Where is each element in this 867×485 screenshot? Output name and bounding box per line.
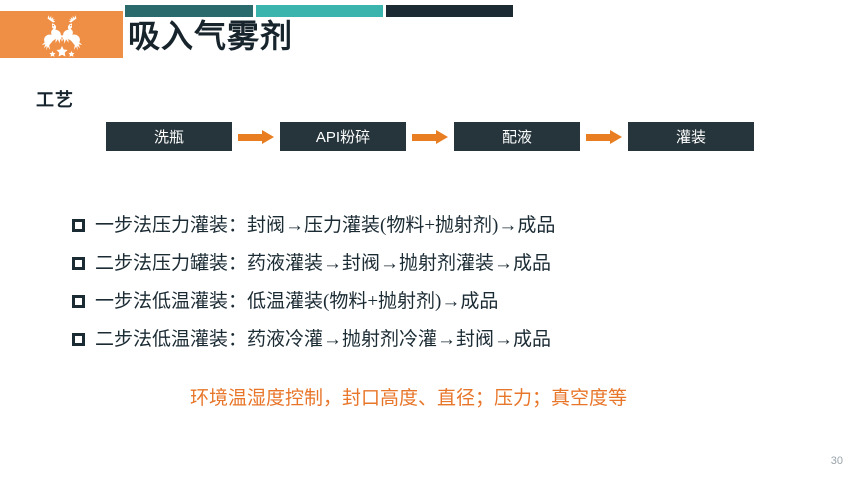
list-item-label: 二步法低温灌装：药液冷灌→抛射剂冷灌→封阀→成品: [95, 326, 551, 354]
flow-step-1: 洗瓶: [106, 122, 232, 151]
page-title: 吸入气雾剂: [128, 16, 293, 56]
list-item-label: 一步法低温灌装：低温灌装(物料+抛射剂)→成品: [95, 288, 498, 316]
hollow-square-bullet-icon: [72, 257, 85, 270]
flow-arrow-1-icon: [232, 130, 280, 144]
slide-page-number: 30: [831, 455, 843, 467]
hollow-square-bullet-icon: [72, 219, 85, 232]
logo-container: [0, 11, 123, 58]
list-item-label: 二步法压力罐装：药液灌装→封阀→抛射剂灌装→成品: [95, 250, 551, 278]
list-item: 一步法压力灌装：封阀→压力灌装(物料+抛射剂)→成品: [72, 212, 812, 250]
control-parameters-note: 环境温湿度控制，封口高度、直径；压力；真空度等: [190, 383, 627, 410]
filling-method-list: 一步法压力灌装：封阀→压力灌装(物料+抛射剂)→成品 二步法压力罐装：药液灌装→…: [72, 212, 812, 364]
double-deer-star-logo-icon: [31, 13, 93, 57]
list-item-label: 一步法压力灌装：封阀→压力灌装(物料+抛射剂)→成品: [95, 212, 555, 240]
list-item: 二步法低温灌装：药液冷灌→抛射剂冷灌→封阀→成品: [72, 326, 812, 364]
list-item: 一步法低温灌装：低温灌装(物料+抛射剂)→成品: [72, 288, 812, 326]
hollow-square-bullet-icon: [72, 295, 85, 308]
flow-arrow-2-icon: [406, 130, 454, 144]
flow-step-4: 灌装: [628, 122, 754, 151]
flow-step-3: 配液: [454, 122, 580, 151]
slide-header: 吸入气雾剂: [0, 0, 867, 72]
process-flow-diagram: 洗瓶 API粉碎 配液 灌装: [106, 122, 754, 151]
header-bar-navy: [386, 5, 513, 17]
list-item: 二步法压力罐装：药液灌装→封阀→抛射剂灌装→成品: [72, 250, 812, 288]
flow-arrow-3-icon: [580, 130, 628, 144]
hollow-square-bullet-icon: [72, 333, 85, 346]
section-label-process: 工艺: [36, 86, 74, 112]
flow-step-2: API粉碎: [280, 122, 406, 151]
